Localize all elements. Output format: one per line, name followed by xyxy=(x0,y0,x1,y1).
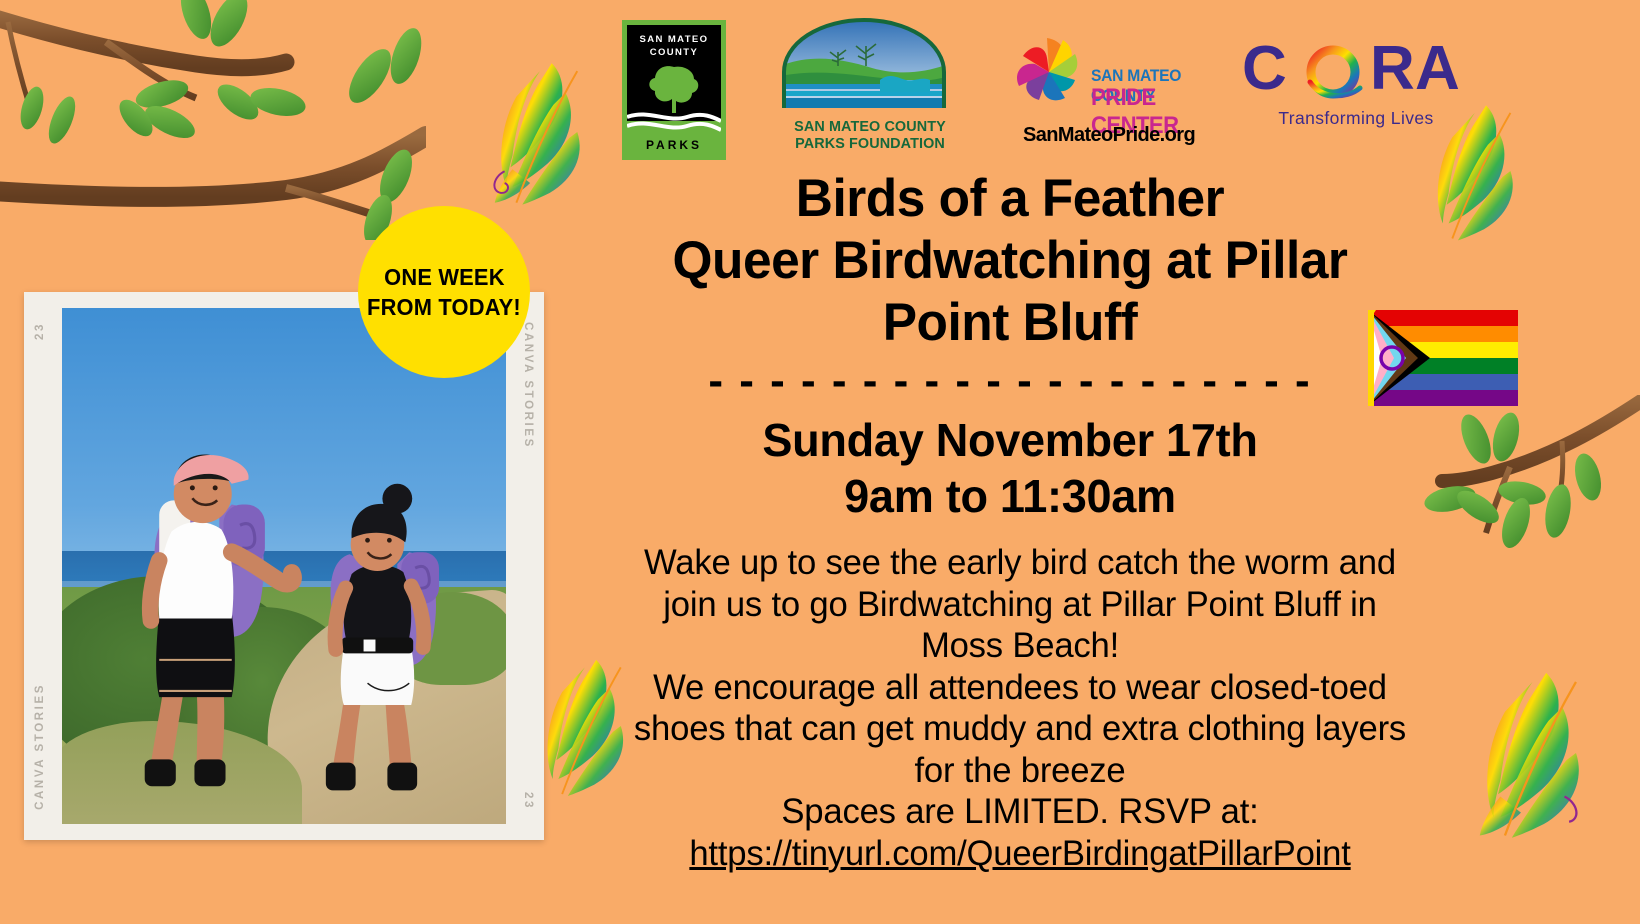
event-description: Wake up to see the early bird catch the … xyxy=(548,542,1492,874)
frame-right-bottom-label: 23 xyxy=(522,792,534,810)
rsvp-link[interactable]: https://tinyurl.com/QueerBirdingatPillar… xyxy=(553,833,1488,875)
dashed-divider: - - - - - - - - - - - - - - - - - - - - xyxy=(540,358,1480,404)
san-mateo-county-parks-foundation-logo: SAN MATEO COUNTY PARKS FOUNDATION xyxy=(780,18,960,160)
headline-line-1: Birds of a Feather xyxy=(554,168,1466,230)
parks-logo-line2: COUNTY xyxy=(650,47,699,58)
cora-tagline: Transforming Lives xyxy=(1240,108,1472,129)
frame-left-bottom-label: CANVA STORIES xyxy=(34,683,46,810)
cora-logo: C R A Transforming Lives xyxy=(1240,38,1472,148)
frame-right-top-label: CANVA STORIES xyxy=(522,322,534,449)
event-date: Sunday November 17th xyxy=(549,412,1470,468)
hiker-illustration-right xyxy=(306,452,475,813)
description-line-7: Spaces are LIMITED. RSVP at: xyxy=(553,791,1488,833)
parks-logo-line1: SAN MATEO xyxy=(640,34,709,45)
leafy-branch-icon xyxy=(0,0,426,240)
description-line-3: Moss Beach! xyxy=(553,625,1488,667)
cora-letter-r: R xyxy=(1370,38,1414,100)
parks-logo-wordmark: PARKS xyxy=(627,138,721,152)
frame-edge-right: CANVA STORIES 23 xyxy=(512,292,544,840)
pinwheel-icon xyxy=(1009,30,1089,114)
description-line-4: We encourage all attendees to wear close… xyxy=(553,667,1488,709)
hiker-illustration-left xyxy=(124,411,310,813)
description-line-1: Wake up to see the early bird catch the … xyxy=(553,542,1488,584)
san-mateo-county-pride-center-logo: SAN MATEO COUNTY PRIDE CENTER SanMateoPr… xyxy=(1005,24,1223,154)
frame-left-top-label: 23 xyxy=(34,322,46,340)
one-week-badge: ONE WEEK FROM TODAY! xyxy=(358,206,530,378)
description-line-6: for the breeze xyxy=(553,750,1488,792)
page-title: Birds of a Feather Queer Birdwatching at… xyxy=(540,168,1480,354)
hikers-photo xyxy=(62,308,506,824)
event-flyer: SAN MATEO COUNTY PARKS xyxy=(0,0,1640,924)
frame-edge-left: 23 CANVA STORIES xyxy=(24,292,56,840)
intersex-inclusive-progress-pride-flag-icon xyxy=(1368,310,1518,406)
pride-logo-website: SanMateoPride.org xyxy=(1023,124,1195,147)
badge-line-2: FROM TODAY! xyxy=(367,292,521,322)
cora-letter-c: C xyxy=(1242,38,1286,100)
headline-line-2: Queer Birdwatching at Pillar xyxy=(554,230,1466,292)
description-line-5: shoes that can get muddy and extra cloth… xyxy=(553,708,1488,750)
event-time: 9am to 11:30am xyxy=(549,468,1470,524)
headline-line-3: Point Bluff xyxy=(554,292,1466,354)
rainbow-ring-icon xyxy=(1302,44,1364,102)
tree-icon xyxy=(642,61,706,113)
event-datetime: Sunday November 17th 9am to 11:30am xyxy=(540,412,1480,524)
foundation-logo-line2: PARKS FOUNDATION xyxy=(795,136,945,152)
cora-letter-a: A xyxy=(1415,38,1459,100)
waves-icon xyxy=(627,111,721,137)
foundation-logo-line1: SAN MATEO COUNTY xyxy=(794,119,946,135)
san-mateo-county-parks-logo: SAN MATEO COUNTY PARKS xyxy=(622,20,726,160)
description-line-2: join us to go Birdwatching at Pillar Poi… xyxy=(553,584,1488,626)
badge-line-1: ONE WEEK xyxy=(384,262,505,292)
park-arch-icon xyxy=(780,18,948,110)
sponsor-logo-row: SAN MATEO COUNTY PARKS xyxy=(600,16,1480,156)
